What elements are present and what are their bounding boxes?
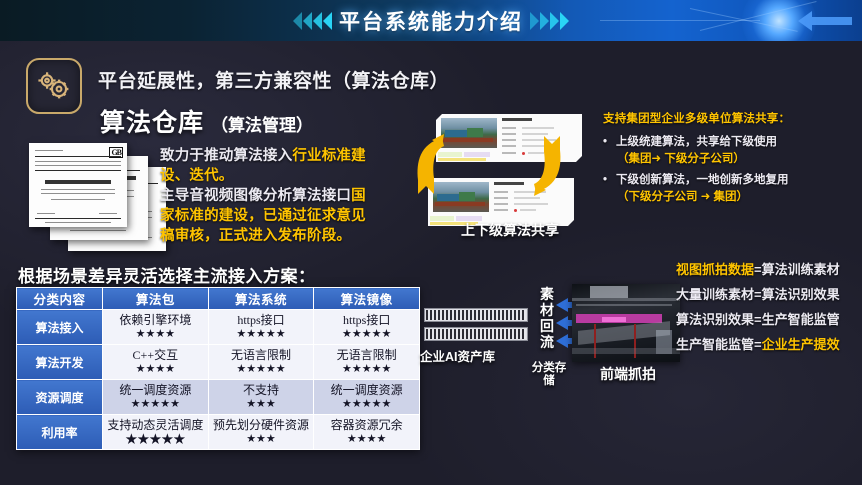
column-header: 分类内容 — [17, 288, 103, 310]
header-bar: 平台系统能力介绍 — [0, 0, 862, 41]
intro-paragraph: 致力于推动算法接入行业标准建设、迭代。 主导音视频图像分析算法接口国家标准的建设… — [160, 146, 376, 246]
cell-text: https接口 — [211, 313, 312, 327]
table-cell: 统一调度资源 ★★★★★ — [103, 380, 209, 415]
page-title: 平台系统能力介绍 — [339, 6, 523, 36]
cell-text: 预先划分硬件资源 — [211, 418, 312, 432]
section-title: 算法仓库 — [100, 103, 204, 139]
para-line1-plain: 致力于推动算法接入 — [160, 148, 292, 164]
cell-rating: ★★★ — [211, 432, 312, 446]
document-page: GB — [29, 143, 127, 227]
cycle-arrow-right-icon — [532, 122, 566, 198]
cell-rating: ★★★★★ — [211, 362, 312, 376]
bullet-icon: • — [603, 172, 610, 188]
equation-row: 算法识别效果=生产智能监管 — [676, 312, 862, 327]
equation-right: 算法训练素材 — [762, 262, 840, 277]
equation-left: 算法识别效果 — [676, 312, 754, 327]
rack-caption: 企业AI资产库 — [420, 350, 498, 365]
table-header-row: 分类内容 算法包 算法系统 算法镜像 — [17, 288, 420, 310]
server-rack-icon — [424, 308, 528, 346]
table-cell: 预先划分硬件资源 ★★★ — [208, 415, 314, 450]
cell-rating: ★★★★★ — [316, 362, 417, 376]
list-item-sub: （下级分子公司 ➜ 集团） — [617, 189, 853, 205]
equation-right: 生产智能监管 — [762, 312, 840, 327]
equation-left: 大量训练素材 — [676, 287, 754, 302]
chevrons-right-icon — [530, 12, 569, 30]
cell-rating: ★★★★ — [105, 327, 206, 341]
cell-text: 支持动态灵活调度★★★★★ — [105, 418, 206, 446]
cell-rating: ★★★★★ — [316, 397, 417, 411]
value-chain-equations: 视图抓拍数据=算法训练素材 大量训练素材=算法识别效果 算法识别效果=生产智能监… — [676, 262, 862, 362]
equation-row: 大量训练素材=算法识别效果 — [676, 287, 862, 302]
bullet-icon: • — [603, 134, 610, 150]
table-cell: 无语言限制 ★★★★★ — [314, 345, 420, 380]
cell-rating: ★★★★★ — [211, 327, 312, 341]
equation-right: 企业生产提效 — [762, 337, 840, 352]
row-header: 算法开发 — [17, 345, 103, 380]
equation-operator: = — [754, 312, 762, 327]
slide-root: 平台系统能力介绍 — [0, 0, 862, 485]
list-item-label: 上级统建算法，共享给下级使用 — [616, 134, 777, 150]
chevrons-left-icon — [293, 12, 332, 30]
table-cell: 支持动态灵活调度★★★★★ — [103, 415, 209, 450]
table-cell: 不支持 ★★★ — [208, 380, 314, 415]
cell-text: 不支持 — [211, 383, 312, 397]
column-header: 算法包 — [103, 288, 209, 310]
table-row: 利用率 支持动态灵活调度★★★★★ 预先划分硬件资源 ★★★ 容器资源冗余 ★★… — [17, 415, 420, 450]
table-cell: https接口 ★★★★★ — [208, 310, 314, 345]
cell-rating: ★★★★★ — [105, 397, 206, 411]
comparison-table: 分类内容 算法包 算法系统 算法镜像 算法接入 依赖引擎环境 ★★★★ http… — [16, 287, 420, 450]
cycle-arrow-left-icon — [412, 132, 446, 208]
header-title-group: 平台系统能力介绍 — [0, 0, 862, 41]
section-title-group: 算法仓库 （算法管理） — [100, 103, 313, 139]
list-item: • 上级统建算法，共享给下级使用 — [603, 134, 853, 150]
cell-text: 无语言限制 — [316, 348, 417, 362]
equation-operator: = — [754, 287, 762, 302]
equation-row: 视图抓拍数据=算法训练素材 — [676, 262, 862, 277]
table-row: 资源调度 统一调度资源 ★★★★★ 不支持 ★★★ 统一调度资源 ★★★★★ — [17, 380, 420, 415]
equation-operator: = — [754, 337, 762, 352]
cell-rating: ★★★ — [211, 397, 312, 411]
cell-text: 依赖引擎环境 — [105, 313, 206, 327]
list-item-label: 下级创新算法，一地创新多地复用 — [616, 172, 789, 188]
flow-label: 素材回流 — [534, 286, 560, 350]
share-heading: 支持集团型企业多级单位算法共享： — [603, 110, 790, 126]
equation-left: 生产智能监管 — [676, 337, 754, 352]
section-title-paren: （算法管理） — [211, 111, 313, 136]
standard-document-stack: GB — [28, 143, 168, 253]
card-thumbnail — [441, 118, 497, 148]
table-cell: 依赖引擎环境 ★★★★ — [103, 310, 209, 345]
cell-text: 容器资源冗余 — [316, 418, 417, 432]
photo-caption: 前端抓拍 — [576, 364, 680, 384]
column-header: 算法系统 — [208, 288, 314, 310]
equation-left: 视图抓拍数据 — [676, 262, 754, 277]
table-cell: 容器资源冗余 ★★★★ — [314, 415, 420, 450]
cards-caption: 上下级算法共享 — [420, 222, 600, 239]
row-header: 算法接入 — [17, 310, 103, 345]
cell-rating: ★★★★ — [316, 432, 417, 446]
cell-rating: ★★★★ — [105, 362, 206, 376]
cell-text: 统一调度资源 — [316, 383, 417, 397]
gears-icon — [26, 58, 82, 114]
card-tags — [438, 152, 492, 160]
table-cell: 统一调度资源 ★★★★★ — [314, 380, 420, 415]
equation-operator: = — [754, 262, 762, 277]
column-header: 算法镜像 — [314, 288, 420, 310]
table-cell: https接口 ★★★★★ — [314, 310, 420, 345]
list-item-sub: （集团➜ 下级分子公司） — [617, 151, 853, 167]
cell-text: C++交互 — [105, 348, 206, 362]
section-subtitle: 平台延展性，第三方兼容性（算法仓库） — [98, 66, 449, 93]
cell-text: 统一调度资源 — [105, 383, 206, 397]
cell-rating: ★★★★★ — [316, 327, 417, 341]
storage-caption: 分类存储 — [528, 362, 570, 388]
equation-row: 生产智能监管=企业生产提效 — [676, 337, 862, 352]
para-line2-plain: 主导音视频图像分析算法接口 — [160, 188, 351, 204]
table-cell: 无语言限制 ★★★★★ — [208, 345, 314, 380]
table-row: 算法接入 依赖引擎环境 ★★★★ https接口 ★★★★★ https接口 ★… — [17, 310, 420, 345]
row-header: 资源调度 — [17, 380, 103, 415]
table-cell: C++交互 ★★★★ — [103, 345, 209, 380]
list-item: • 下级创新算法，一地创新多地复用 — [603, 172, 853, 188]
table-row: 算法开发 C++交互 ★★★★ 无语言限制 ★★★★★ 无语言限制 ★★★★★ — [17, 345, 420, 380]
cell-text: https接口 — [316, 313, 417, 327]
front-end-capture-photo — [572, 284, 680, 362]
table-title: 根据场景差异灵活选择主流接入方案： — [18, 262, 316, 287]
equation-right: 算法识别效果 — [762, 287, 840, 302]
row-header: 利用率 — [17, 415, 103, 450]
share-list: • 上级统建算法，共享给下级使用 （集团➜ 下级分子公司） • 下级创新算法，一… — [603, 134, 853, 210]
cell-text: 无语言限制 — [211, 348, 312, 362]
